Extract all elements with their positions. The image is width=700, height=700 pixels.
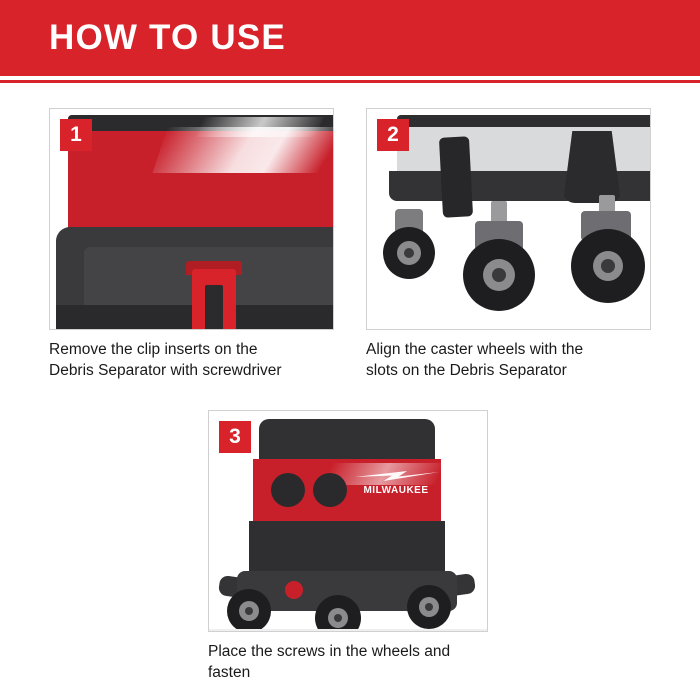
clip-insert-slot — [205, 285, 223, 330]
vacuum-port-left — [271, 473, 305, 507]
step-1: 1 Remove the clip inserts on the Debris … — [49, 108, 334, 381]
assembled-caster-front-center — [313, 593, 373, 632]
assembled-caster-front-right — [405, 583, 461, 631]
step-3: MILWAUKEE 3 Place — [208, 410, 493, 683]
caster-wheel-right — [553, 195, 651, 305]
page-title: HOW TO USE — [49, 18, 286, 58]
brand-logo: MILWAUKEE — [355, 477, 437, 503]
caster-wheel-center — [449, 201, 545, 311]
drain-knob — [285, 581, 303, 599]
red-shell-highlight-2 — [196, 117, 323, 137]
caster-wheel-left — [377, 209, 447, 279]
vacuum-port-right — [313, 473, 347, 507]
step-1-caption: Remove the clip inserts on the Debris Se… — [49, 339, 299, 381]
step-2-badge: 2 — [377, 119, 409, 151]
header-accent-line — [0, 80, 700, 83]
step-3-badge: 3 — [219, 421, 251, 453]
step-1-badge: 1 — [60, 119, 92, 151]
step-3-image: MILWAUKEE 3 — [208, 410, 488, 632]
step-1-image: 1 — [49, 108, 334, 330]
mounting-bracket-right — [563, 131, 621, 203]
how-to-use-page: HOW TO USE 1 Remove the clip inserts on … — [0, 0, 700, 700]
step-2: 2 Align the caster wheels with the slots… — [366, 108, 651, 381]
vacuum-top-housing — [259, 419, 435, 463]
assembled-caster-front-left — [225, 587, 281, 632]
step-3-caption: Place the screws in the wheels and faste… — [208, 641, 478, 683]
step-2-image: 2 — [366, 108, 651, 330]
header-band: HOW TO USE — [0, 0, 700, 76]
floor-shadow — [209, 629, 488, 632]
separator-underside-trim — [397, 115, 651, 127]
step-2-caption: Align the caster wheels with the slots o… — [366, 339, 616, 381]
